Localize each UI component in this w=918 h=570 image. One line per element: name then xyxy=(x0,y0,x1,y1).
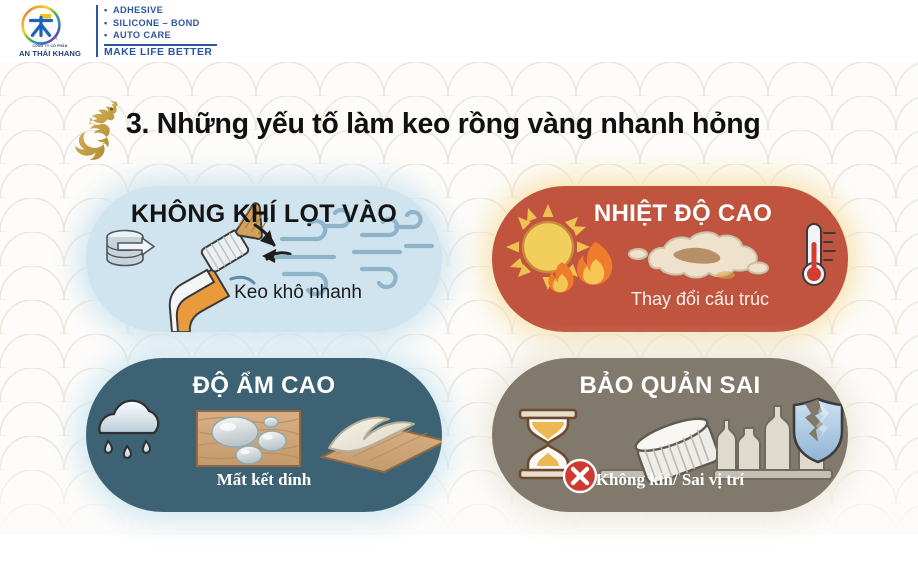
card-heat[interactable]: NHIỆT ĐỘ CAO Thay đổi cấu trúc xyxy=(492,186,848,332)
header-bullet-adhesive: ADHESIVE xyxy=(104,4,200,17)
header-bullet-list: ADHESIVE SILICONE – BOND AUTO CARE xyxy=(104,4,200,42)
card-air-caption: Keo khô nhanh xyxy=(154,282,442,304)
card-humidity-title: ĐỘ ẨM CAO xyxy=(86,372,442,400)
card-humidity[interactable]: ĐỘ ẨM CAO Mất kết dính xyxy=(86,358,442,512)
rain-cloud-icon xyxy=(99,401,158,458)
card-heat-caption: Thay đổi cấu trúc xyxy=(552,289,848,310)
logo: ® CÔNG TY CỔ PHẦN AN THÁI KHANG xyxy=(8,4,92,60)
card-heat-title: NHIỆT ĐỘ CAO xyxy=(518,200,848,228)
header-divider xyxy=(96,5,98,57)
header-tagline: MAKE LIFE BETTER xyxy=(104,47,212,58)
peeling-veneer-icon xyxy=(322,418,442,472)
thermometer-icon xyxy=(803,224,835,285)
page-title: 3. Những yếu tố làm keo rồng vàng nhanh … xyxy=(126,108,760,141)
air-seal-icon xyxy=(107,231,154,266)
header-bullet-silicone: SILICONE – BOND xyxy=(104,17,200,30)
card-humidity-caption: Mất kết dính xyxy=(86,470,442,490)
card-air-title: KHÔNG KHÍ LỌT VÀO xyxy=(86,200,442,229)
header-rule xyxy=(104,44,217,46)
logo-company-name: AN THÁI KHANG xyxy=(8,49,92,58)
card-storage-title: BẢO QUẢN SAI xyxy=(492,372,848,400)
broken-shield-icon xyxy=(794,399,842,462)
card-storage-caption: Không kín/ Sai vị trí xyxy=(492,470,848,490)
svg-text:®: ® xyxy=(55,36,58,41)
golden-dragon-icon xyxy=(66,92,124,166)
wet-wood-panel-icon xyxy=(197,411,300,466)
brand-header: ® CÔNG TY CỔ PHẦN AN THÁI KHANG ADHESIVE… xyxy=(0,0,918,62)
card-air[interactable]: KHÔNG KHÍ LỌT VÀO Keo khô nhanh xyxy=(86,186,442,332)
card-storage[interactable]: BẢO QUẢN SAI Không kín/ Sai vị trí xyxy=(492,358,848,512)
header-bullet-auto-care: AUTO CARE xyxy=(104,29,200,42)
slide-canvas: ® CÔNG TY CỔ PHẦN AN THÁI KHANG ADHESIVE… xyxy=(0,0,918,570)
glue-puddle-icon xyxy=(629,232,768,278)
